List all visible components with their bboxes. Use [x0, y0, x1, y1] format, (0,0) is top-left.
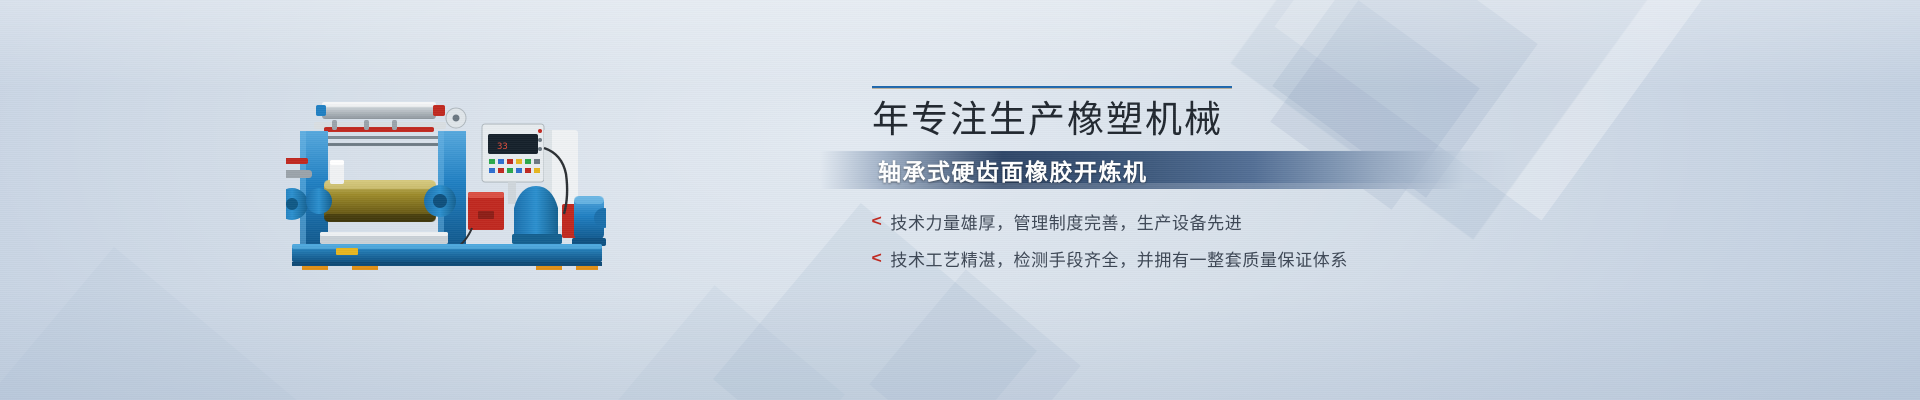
main-roll [324, 180, 436, 222]
list-item-label: 技术力量雄厚，管理制度完善，生产设备先进 [890, 209, 1242, 234]
product-image: 33 [286, 96, 606, 272]
product-plaque-label: 轴承式硬齿面橡胶开炼机 [878, 153, 1148, 187]
chevron-left-icon: < [872, 251, 882, 267]
rule-line-gold [872, 88, 1232, 89]
banner-content: 年专注生产橡塑机械 轴承式硬齿面橡胶开炼机 < 技术力量雄厚，管理制度完善，生产… [820, 86, 1520, 283]
list-item: < 技术工艺精湛，检测手段齐全，并拥有一整套质量保证体系 [872, 246, 1520, 271]
list-item-label: 技术工艺精湛，检测手段齐全，并拥有一整套质量保证体系 [890, 246, 1348, 271]
list-item: < 技术力量雄厚，管理制度完善，生产设备先进 [872, 209, 1520, 234]
watermark-shape-f [605, 285, 845, 400]
svg-text:33: 33 [497, 142, 508, 152]
hero-banner: 33 [0, 0, 1920, 400]
watermark-shape-g [0, 247, 313, 400]
headline-rule [872, 86, 1232, 89]
page-title: 年专注生产橡塑机械 [872, 99, 1520, 143]
chevron-left-icon: < [872, 214, 882, 230]
feature-list: < 技术力量雄厚，管理制度完善，生产设备先进 < 技术工艺精湛，检测手段齐全，并… [872, 209, 1520, 271]
upper-roll [316, 102, 445, 119]
drive-motor [572, 196, 606, 246]
product-plaque: 轴承式硬齿面橡胶开炼机 [820, 151, 1520, 189]
watermark-shape-e [869, 269, 1080, 400]
